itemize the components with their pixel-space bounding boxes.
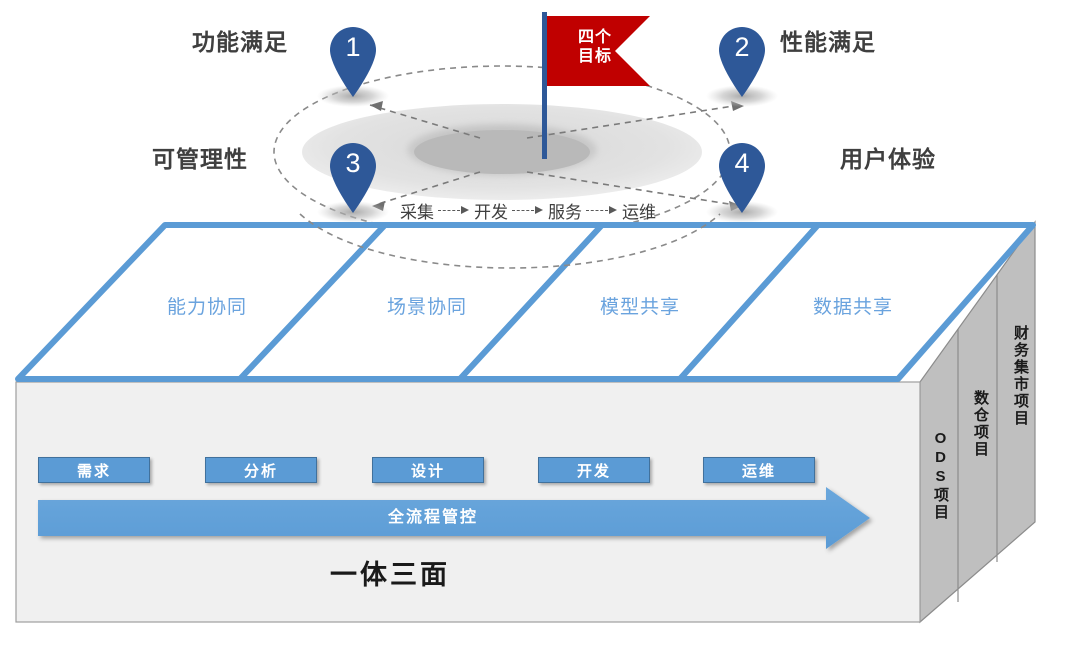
lifecycle-step-3: 服务 — [548, 198, 582, 223]
lifecycle-step-1: 采集 — [400, 198, 434, 223]
top-panel-label-4: 数据共享 — [813, 292, 893, 319]
goal-label-3: 可管理性 — [152, 140, 248, 174]
lifecycle-step-4: 运维 — [622, 198, 656, 223]
top-panel-label-3: 模型共享 — [600, 292, 680, 319]
flag-label: 四个 目标 — [565, 28, 625, 66]
flag-label-line1: 四个 — [578, 29, 612, 46]
goal-label-2: 性能满足 — [780, 23, 876, 57]
lifecycle-chain: 采集 开发 服务 运维 — [400, 198, 656, 223]
stage-button-requirement[interactable]: 需求 — [38, 457, 150, 483]
stage-button-design[interactable]: 设计 — [372, 457, 484, 483]
stage-button-analysis[interactable]: 分析 — [205, 457, 317, 483]
lifecycle-arrow-3 — [585, 206, 619, 216]
diagram-caption: 一体三面 — [0, 553, 780, 592]
side-panel-label-ods: ODS项目 — [930, 430, 951, 521]
stage-button-development[interactable]: 开发 — [538, 457, 650, 483]
top-panel-label-1: 能力协同 — [167, 292, 247, 319]
stage-button-operations[interactable]: 运维 — [703, 457, 815, 483]
flag-pole — [542, 12, 547, 159]
lifecycle-arrow-1 — [437, 206, 471, 216]
lifecycle-arrow-2 — [511, 206, 545, 216]
flag-label-line2: 目标 — [578, 48, 612, 65]
goal-label-1: 功能满足 — [192, 23, 288, 57]
side-panel-label-dw: 数仓项目 — [970, 390, 991, 458]
diagram-canvas: 功能满足 性能满足 可管理性 用户体验 1 2 3 4 四个 目标 采集 开发 … — [0, 0, 1080, 651]
top-panel-label-2: 场景协同 — [387, 292, 467, 319]
lifecycle-step-2: 开发 — [474, 198, 508, 223]
side-panel-label-finance: 财务集市项目 — [1010, 325, 1031, 427]
goal-label-4: 用户体验 — [840, 140, 936, 174]
